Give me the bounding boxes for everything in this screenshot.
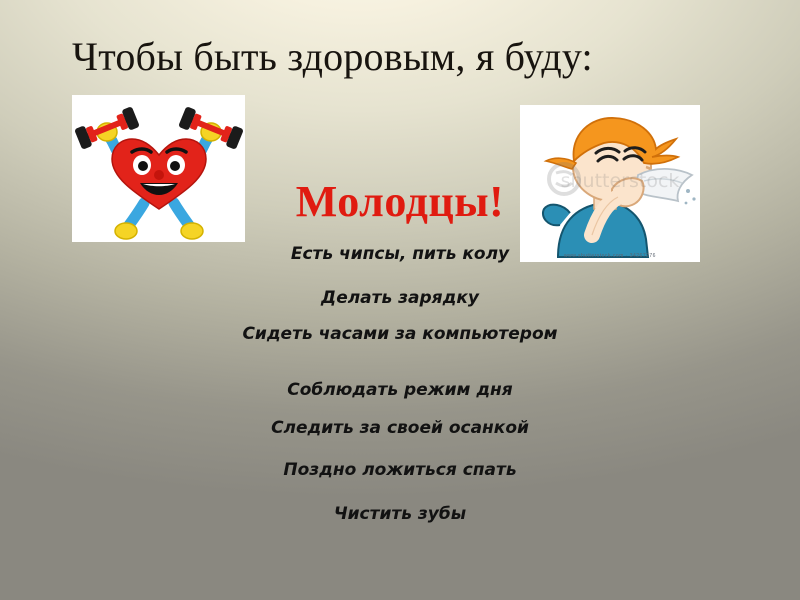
list-item: Сидеть часами за компьютером [0,324,800,344]
list-item: Есть чипсы, пить колу [0,244,800,264]
list-item: Делать зарядку [0,288,800,308]
praise-text: Молодцы! [0,176,800,227]
list-item: Соблюдать режим дня [0,380,800,400]
slide-canvas: Чтобы быть здоровым, я буду: [0,0,800,600]
list-item: Следить за своей осанкой [0,418,800,438]
page-title: Чтобы быть здоровым, я буду: [72,33,732,80]
list-item: Чистить зубы [0,504,800,524]
list-item: Поздно ложиться спать [0,460,800,480]
